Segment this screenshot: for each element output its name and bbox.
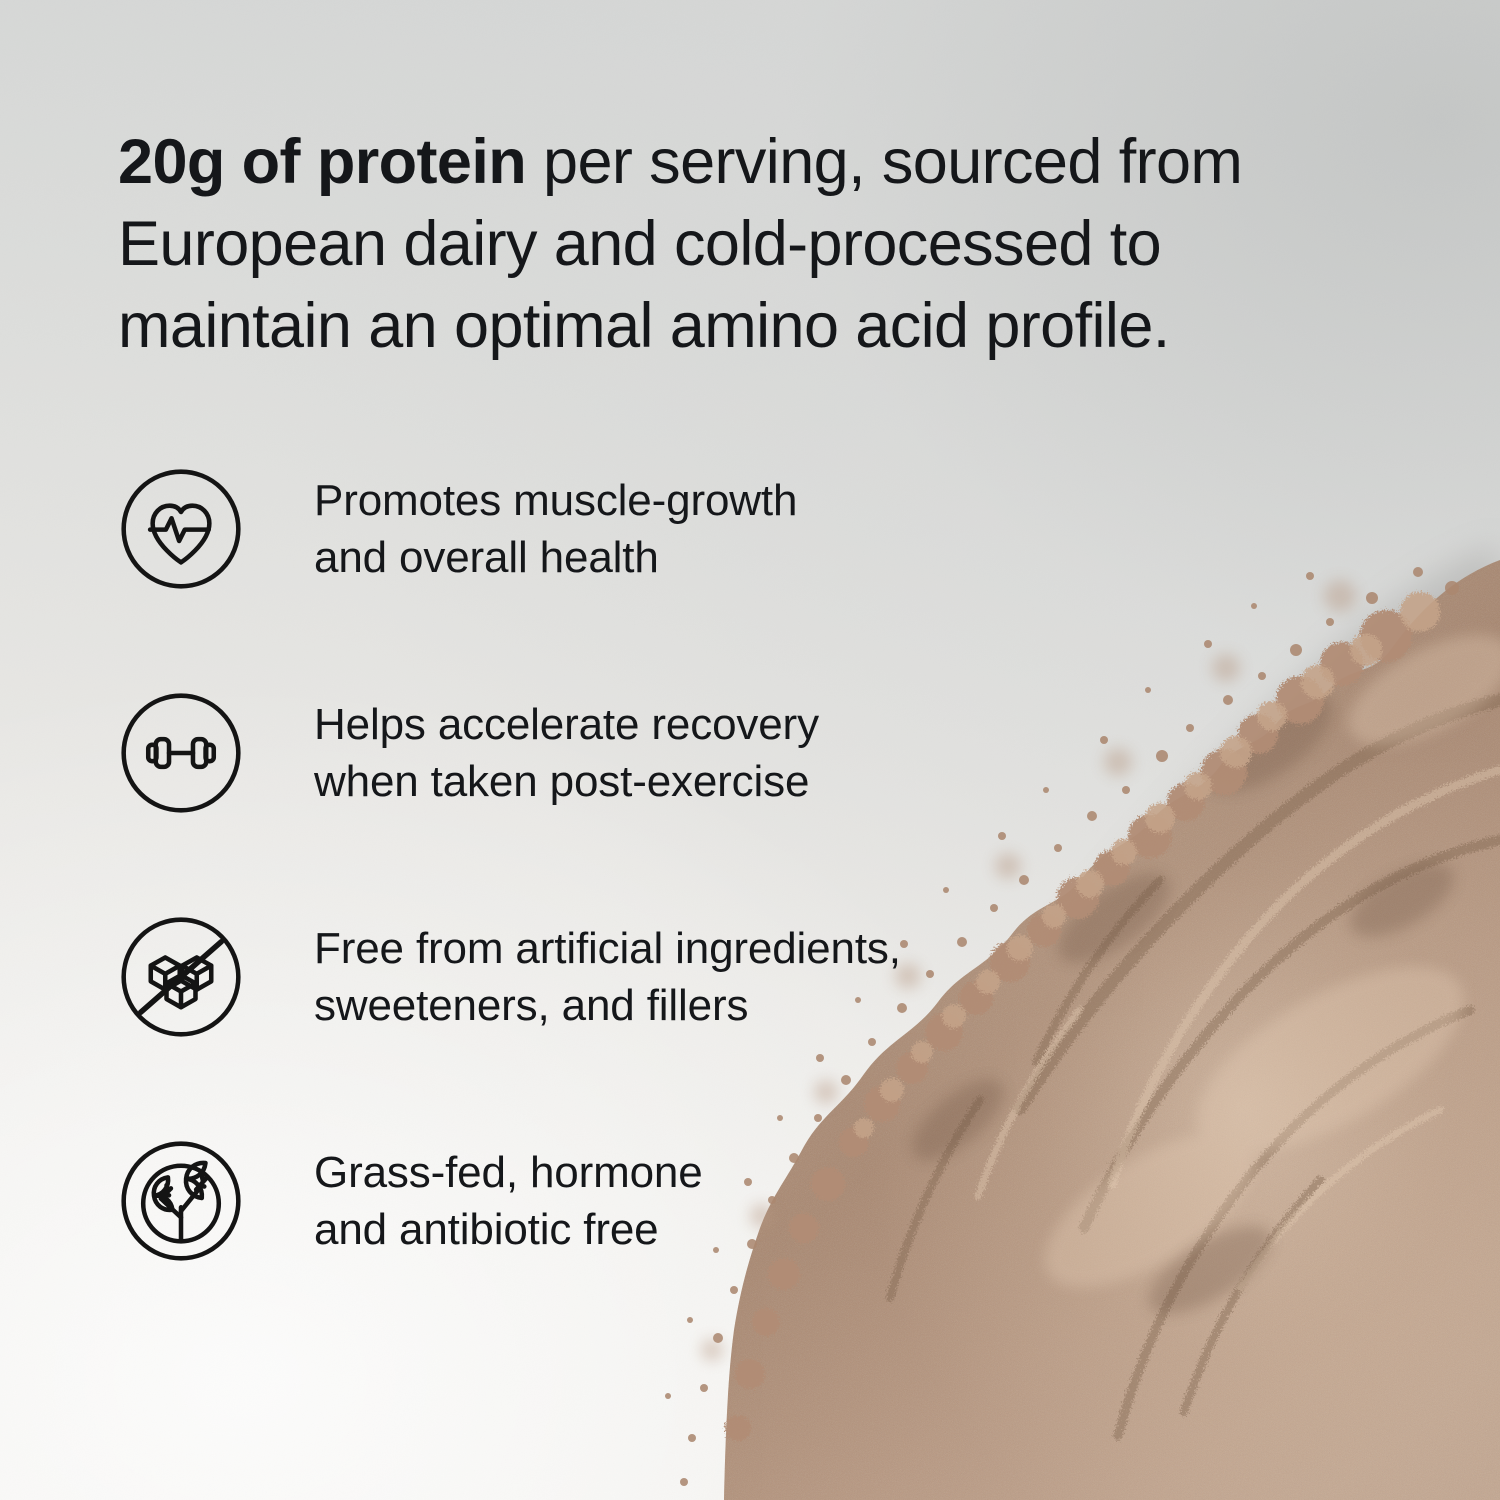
benefit-label: Grass-fed, hormone and antibiotic free — [314, 1144, 703, 1258]
infographic-canvas: 20g of protein per serving, sourced from… — [0, 0, 1500, 1500]
headline: 20g of protein per serving, sourced from… — [118, 122, 1348, 368]
no-sugar-cubes-icon — [118, 914, 244, 1040]
benefit-item-grass-fed: Grass-fed, hormone and antibiotic free — [118, 1127, 1078, 1275]
benefit-item-recovery: Helps accelerate recovery when taken pos… — [118, 679, 1078, 827]
heart-pulse-icon — [118, 466, 244, 592]
benefit-label: Helps accelerate recovery when taken pos… — [314, 696, 819, 810]
dumbbell-icon — [118, 690, 244, 816]
benefit-item-no-artificial: Free from artificial ingredients, sweete… — [118, 903, 1078, 1051]
headline-bold-lead: 20g of protein — [118, 127, 526, 197]
benefit-item-muscle-growth: Promotes muscle-growth and overall healt… — [118, 455, 1078, 603]
benefit-label: Promotes muscle-growth and overall healt… — [314, 472, 797, 586]
plant-sprout-icon — [118, 1138, 244, 1264]
benefits-list: Promotes muscle-growth and overall healt… — [118, 455, 1078, 1275]
benefit-label: Free from artificial ingredients, sweete… — [314, 920, 901, 1034]
